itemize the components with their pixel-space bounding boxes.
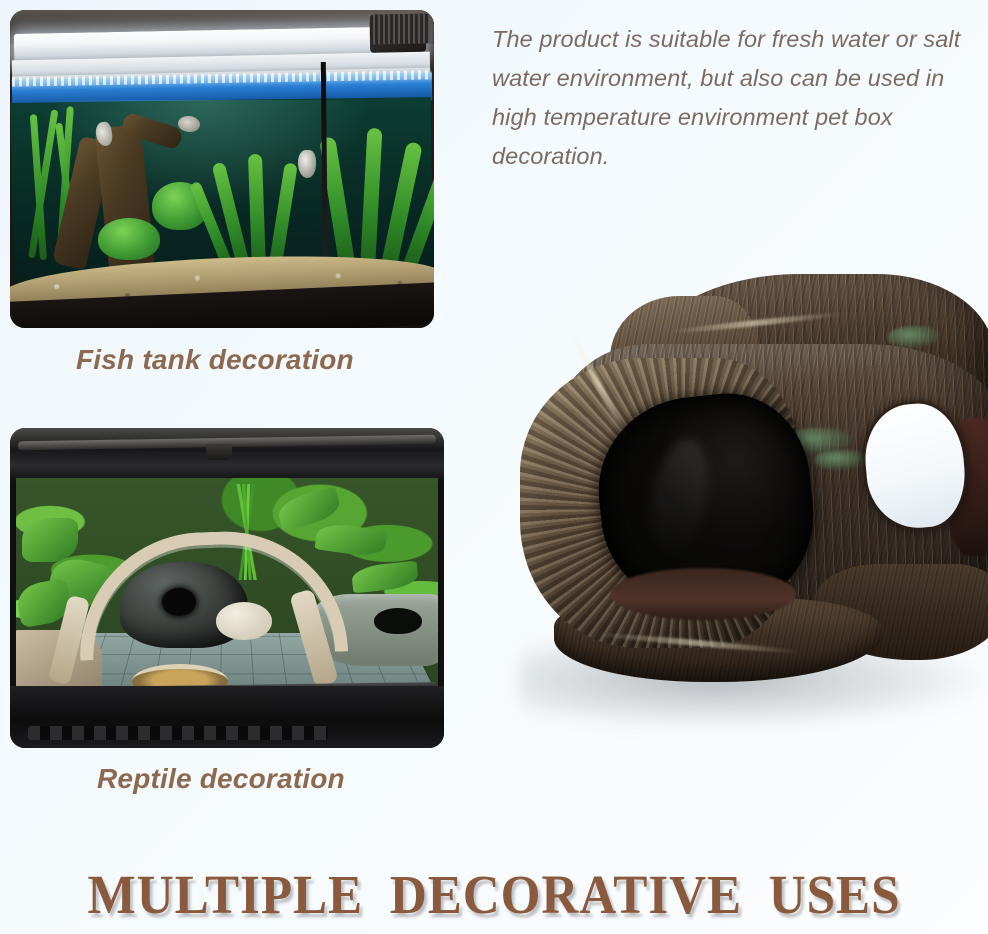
fish-tank-photo [10,10,434,328]
hollow-floor [610,568,796,620]
reptile-tank-scene [10,428,444,748]
leaf-bush [98,218,160,260]
product-marketing-image: The product is suitable for fresh water … [0,0,988,934]
terrarium-interior [16,478,438,696]
headline-paragraph: The product is suitable for fresh water … [492,20,962,176]
hollow-log-decoration [514,268,988,678]
banner-headline: MULTIPLE DECORATIVE USES [35,863,954,926]
rock-ledge-hole [374,608,422,634]
light-end-cap [370,13,431,44]
hood-clip [206,444,232,460]
base-vents [28,726,328,740]
hollow-log-product-photo [486,250,988,750]
pothos-leaf [22,518,78,562]
reptile-tank-photo [10,428,444,748]
fish-tank-caption: Fish tank decoration [76,344,354,376]
angelfish [298,150,316,178]
fish-tank-scene [10,10,434,328]
reptile-tank-caption: Reptile decoration [97,763,345,795]
